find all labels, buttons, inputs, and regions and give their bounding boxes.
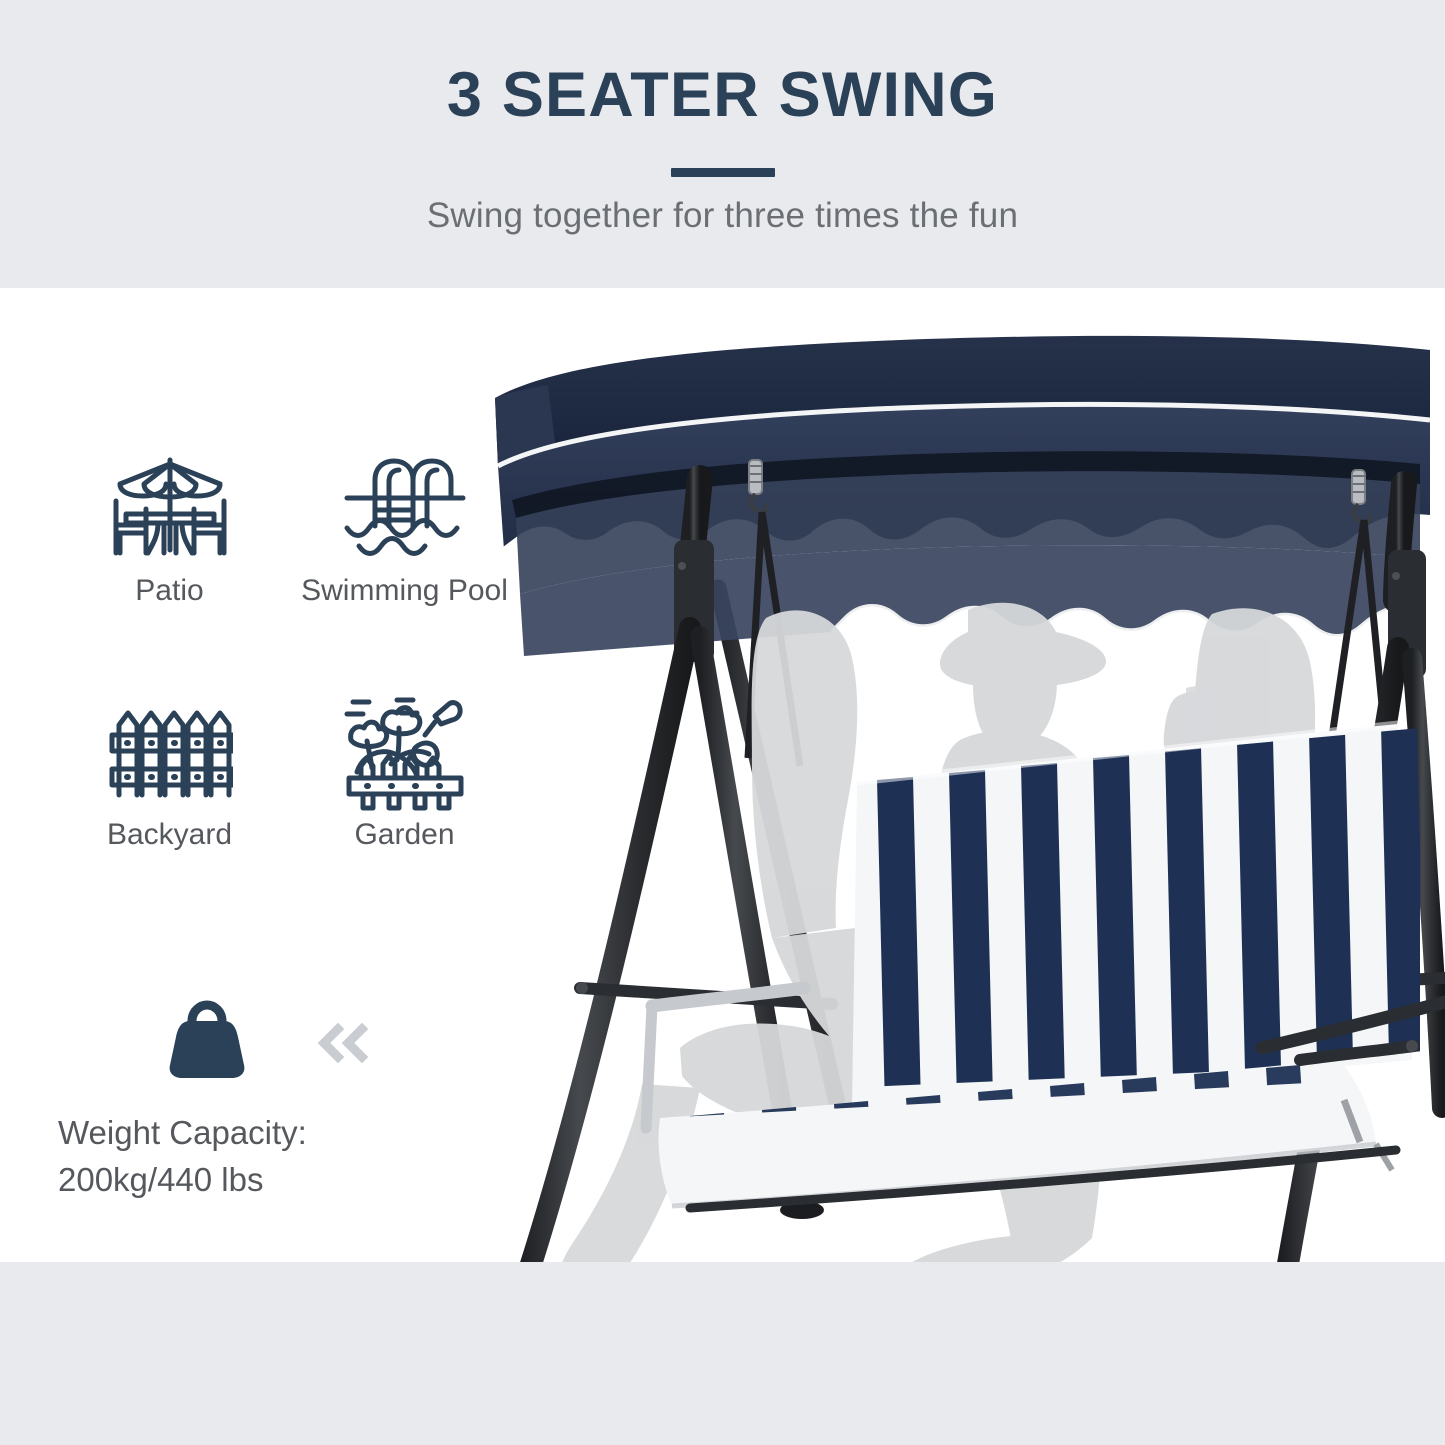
feature-label-patio: Patio — [52, 574, 287, 608]
canopy — [495, 336, 1430, 656]
swimming-pool-ladder-icon — [287, 440, 522, 570]
weight-capacity-block: Weight Capacity: 200kg/440 lbs — [52, 995, 452, 1204]
feature-icon-grid: Patio — [52, 440, 522, 852]
garden-planter-icon — [287, 684, 522, 814]
feature-item-swimming-pool[interactable]: Swimming Pool — [287, 440, 522, 608]
feature-item-garden[interactable]: Garden — [287, 684, 522, 852]
footer-band — [0, 1262, 1445, 1445]
header-band: 3 SEATER SWING Swing together for three … — [0, 0, 1445, 288]
picket-fence-icon — [52, 684, 287, 814]
feature-item-patio[interactable]: Patio — [52, 440, 287, 608]
feature-label-garden: Garden — [287, 818, 522, 852]
patio-umbrella-table-icon — [52, 440, 287, 570]
infographic-page: 3 SEATER SWING Swing together for three … — [0, 0, 1445, 1445]
feature-item-backyard[interactable]: Backyard — [52, 684, 287, 852]
page-title: 3 SEATER SWING — [0, 62, 1445, 128]
feature-label-swimming-pool: Swimming Pool — [287, 574, 522, 608]
weight-capacity-value: 200kg/440 lbs — [58, 1157, 452, 1204]
feature-label-backyard: Backyard — [52, 818, 287, 852]
double-chevron-left-icon — [314, 1023, 370, 1063]
title-divider — [671, 168, 775, 177]
weight-capacity-label: Weight Capacity: — [58, 1110, 452, 1157]
page-subtitle: Swing together for three times the fun — [0, 196, 1445, 236]
weight-kettlebell-icon — [162, 999, 248, 1086]
